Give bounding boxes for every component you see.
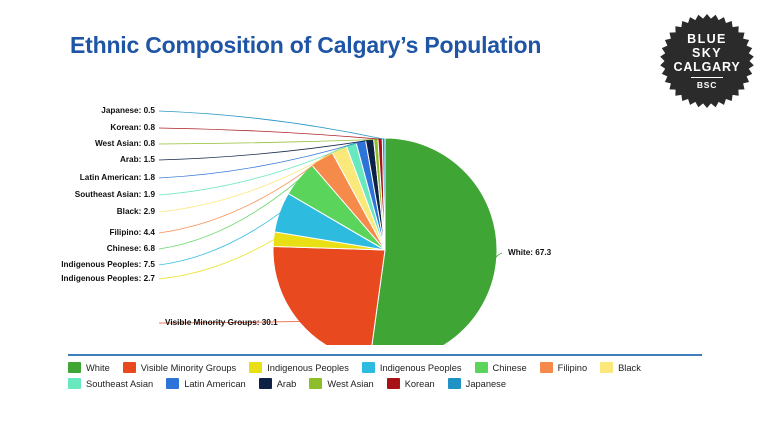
legend-label: White	[86, 363, 110, 373]
pie-data-label: Southeast Asian: 1.9	[0, 190, 155, 199]
legend-swatch	[448, 378, 461, 389]
leader-line	[159, 111, 384, 139]
leader-line	[159, 212, 281, 265]
pie-chart: White: 67.3Visible Minority Groups: 30.1…	[0, 70, 768, 345]
legend-swatch	[123, 362, 136, 373]
legend-swatch	[166, 378, 179, 389]
legend-divider	[68, 354, 702, 356]
legend-label: Indigenous Peoples	[380, 363, 462, 373]
legend-label: Black	[618, 363, 641, 373]
page-title: Ethnic Composition of Calgary’s Populati…	[70, 32, 541, 59]
legend-item[interactable]: Black	[600, 362, 641, 373]
pie-data-label: Indigenous Peoples: 7.5	[0, 260, 155, 269]
pie-data-label: White: 67.3	[508, 248, 551, 257]
legend-label: Indigenous Peoples	[267, 363, 349, 373]
leader-line	[159, 140, 376, 145]
legend-item[interactable]: Japanese	[448, 378, 506, 389]
pie-data-label: Chinese: 6.8	[0, 244, 155, 253]
pie-data-label: Korean: 0.8	[0, 123, 155, 132]
pie-slice	[370, 138, 497, 345]
slide-canvas: Ethnic Composition of Calgary’s Populati…	[0, 0, 768, 432]
legend-label: Japanese	[466, 379, 506, 389]
legend-label: Visible Minority Groups	[141, 363, 236, 373]
legend-label: Filipino	[558, 363, 587, 373]
pie-data-label: Indigenous Peoples: 2.7	[0, 274, 155, 283]
legend-item[interactable]: White	[68, 362, 110, 373]
pie-slice	[273, 246, 385, 345]
legend-swatch	[600, 362, 613, 373]
pie-data-label: Filipino: 4.4	[0, 228, 155, 237]
legend-label: Korean	[405, 379, 435, 389]
legend-item[interactable]: Indigenous Peoples	[249, 362, 349, 373]
legend-label: Latin American	[184, 379, 246, 389]
legend-item[interactable]: Arab	[259, 378, 297, 389]
legend-item[interactable]: Visible Minority Groups	[123, 362, 236, 373]
legend-swatch	[249, 362, 262, 373]
pie-slices	[273, 138, 497, 345]
chart-legend: WhiteVisible Minority GroupsIndigenous P…	[68, 362, 718, 389]
legend-swatch	[387, 378, 400, 389]
legend-swatch	[362, 362, 375, 373]
legend-swatch	[309, 378, 322, 389]
pie-data-label: West Asian: 0.8	[0, 139, 155, 148]
pie-data-label: Black: 2.9	[0, 207, 155, 216]
legend-item[interactable]: West Asian	[309, 378, 373, 389]
legend-label: West Asian	[327, 379, 373, 389]
legend-item[interactable]: Chinese	[475, 362, 527, 373]
leader-line	[159, 239, 275, 279]
legend-swatch	[259, 378, 272, 389]
legend-item[interactable]: Southeast Asian	[68, 378, 153, 389]
legend-item[interactable]: Filipino	[540, 362, 587, 373]
legend-item[interactable]: Indigenous Peoples	[362, 362, 462, 373]
legend-swatch	[68, 362, 81, 373]
pie-data-label: Visible Minority Groups: 30.1	[165, 318, 278, 327]
legend-item[interactable]: Latin American	[166, 378, 246, 389]
pie-data-label: Latin American: 1.8	[0, 173, 155, 182]
legend-swatch	[68, 378, 81, 389]
legend-label: Southeast Asian	[86, 379, 153, 389]
legend-swatch	[475, 362, 488, 373]
legend-item[interactable]: Korean	[387, 378, 435, 389]
legend-label: Chinese	[493, 363, 527, 373]
pie-data-label: Japanese: 0.5	[0, 106, 155, 115]
leader-line	[159, 128, 380, 139]
pie-data-label: Arab: 1.5	[0, 155, 155, 164]
legend-swatch	[540, 362, 553, 373]
legend-label: Arab	[277, 379, 297, 389]
